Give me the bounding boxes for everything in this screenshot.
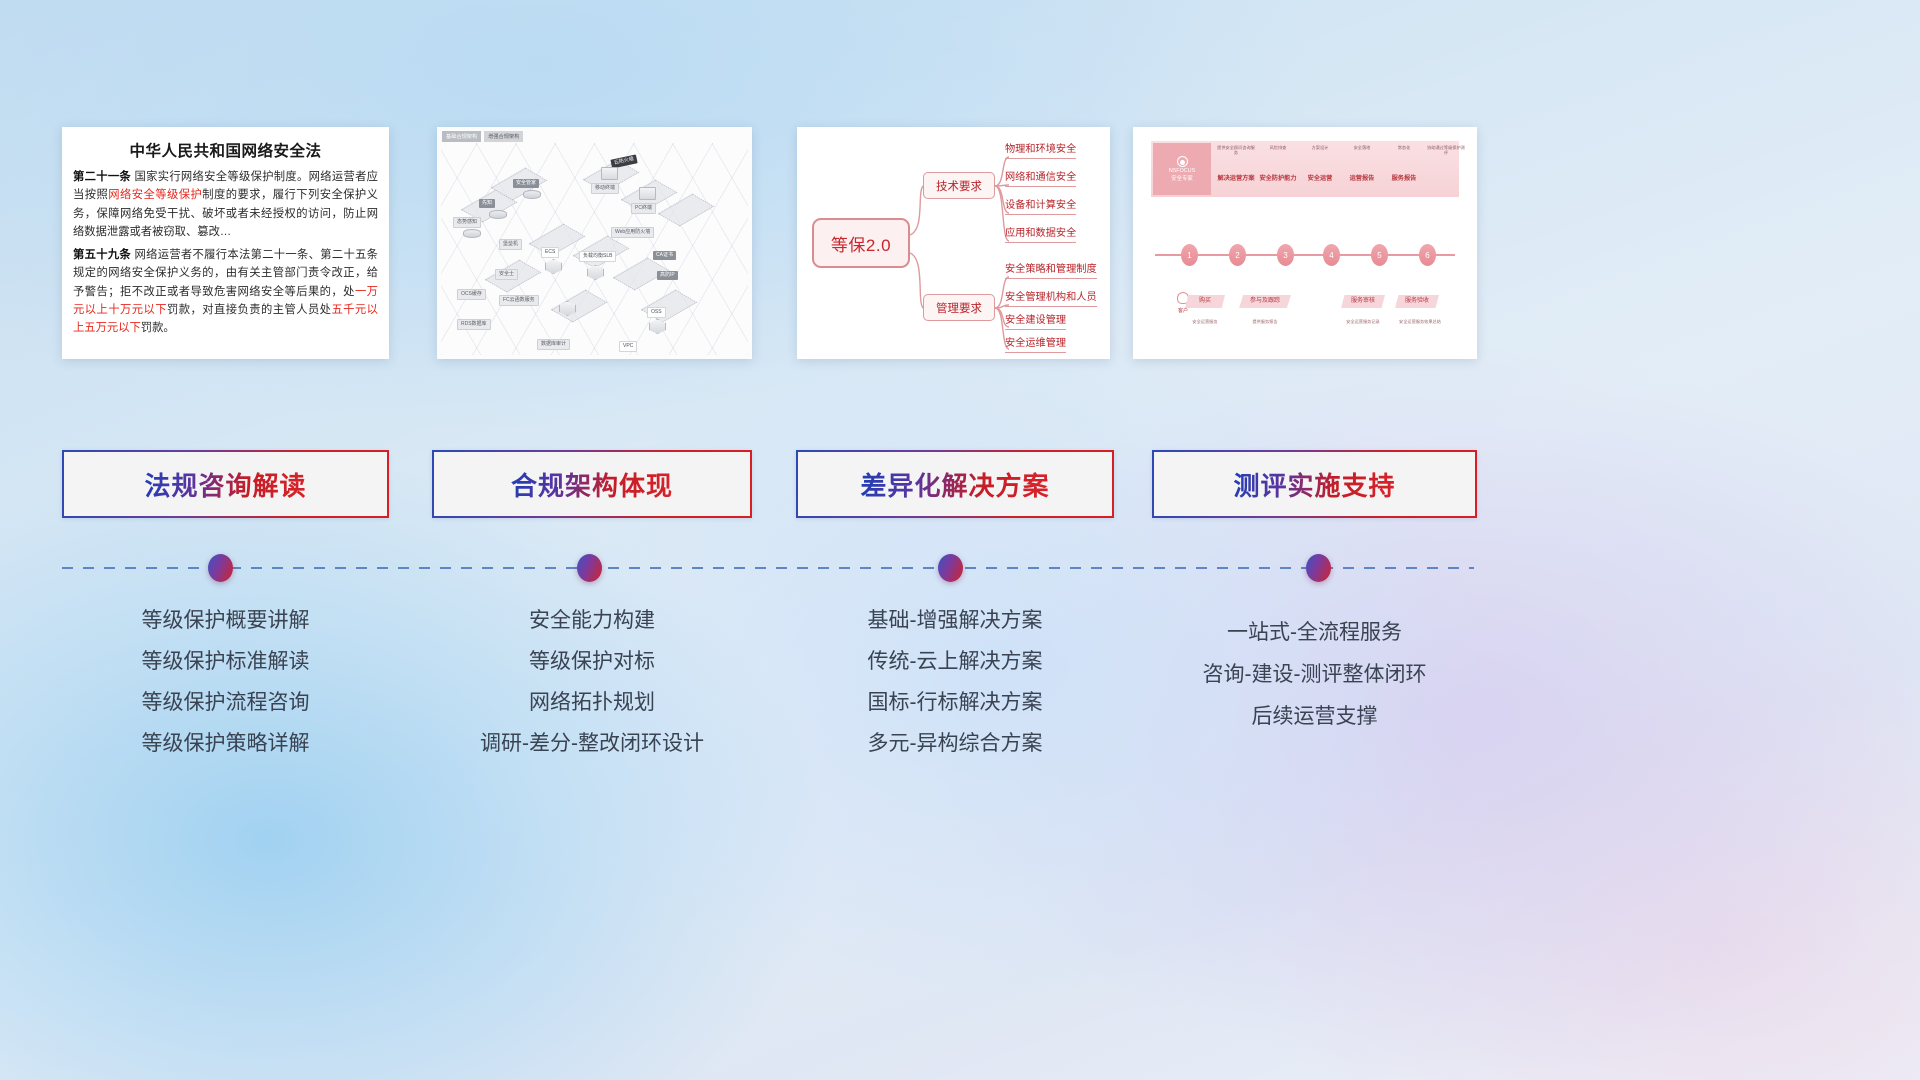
timeline-dot-4[interactable] — [1306, 554, 1331, 582]
list-item: 基础-增强解决方案 — [796, 600, 1114, 641]
label-text: 测评实施支持 — [1233, 466, 1395, 503]
column-differentiated-solution: 基础-增强解决方案 传统-云上解决方案 国标-行标解决方案 多元-异构综合方案 — [796, 600, 1114, 764]
detail-columns: 等级保护概要讲解 等级保护标准解读 等级保护流程咨询 等级保护策略详解 安全能力… — [0, 600, 1920, 860]
list-item: 等级保护概要讲解 — [62, 600, 389, 641]
label-boxes: 法规咨询解读 合规架构体现 差异化解决方案 测评实施支持 — [0, 0, 1920, 1080]
label-text: 差异化解决方案 — [860, 466, 1049, 503]
timeline-track — [62, 567, 1474, 569]
list-item: 等级保护流程咨询 — [62, 682, 389, 723]
list-item: 咨询-建设-测评整体闭环 — [1152, 654, 1477, 696]
column-compliance-architecture: 安全能力构建 等级保护对标 网络拓扑规划 调研-差分-整改闭环设计 — [432, 600, 752, 764]
list-item: 调研-差分-整改闭环设计 — [432, 723, 752, 764]
timeline-dot-3[interactable] — [938, 554, 963, 582]
timeline-dot-2[interactable] — [577, 554, 602, 582]
timeline-dot-1[interactable] — [208, 554, 233, 582]
list-item: 网络拓扑规划 — [432, 682, 752, 723]
list-item: 等级保护策略详解 — [62, 723, 389, 764]
list-item: 安全能力构建 — [432, 600, 752, 641]
list-item: 多元-异构综合方案 — [796, 723, 1114, 764]
list-item: 后续运营支撑 — [1152, 696, 1477, 738]
list-item: 国标-行标解决方案 — [796, 682, 1114, 723]
list-item: 一站式-全流程服务 — [1152, 612, 1477, 654]
label-box-regulation-consulting[interactable]: 法规咨询解读 — [62, 450, 389, 518]
list-item: 传统-云上解决方案 — [796, 641, 1114, 682]
label-box-assessment-support[interactable]: 测评实施支持 — [1152, 450, 1477, 518]
column-assessment-support: 一站式-全流程服务 咨询-建设-测评整体闭环 后续运营支撑 — [1152, 600, 1477, 738]
column-regulation-consulting: 等级保护概要讲解 等级保护标准解读 等级保护流程咨询 等级保护策略详解 — [62, 600, 389, 764]
label-text: 合规架构体现 — [511, 466, 673, 503]
label-box-compliance-architecture[interactable]: 合规架构体现 — [432, 450, 752, 518]
list-item: 等级保护对标 — [432, 641, 752, 682]
label-box-differentiated-solution[interactable]: 差异化解决方案 — [796, 450, 1114, 518]
label-text: 法规咨询解读 — [144, 466, 306, 503]
list-item: 等级保护标准解读 — [62, 641, 389, 682]
